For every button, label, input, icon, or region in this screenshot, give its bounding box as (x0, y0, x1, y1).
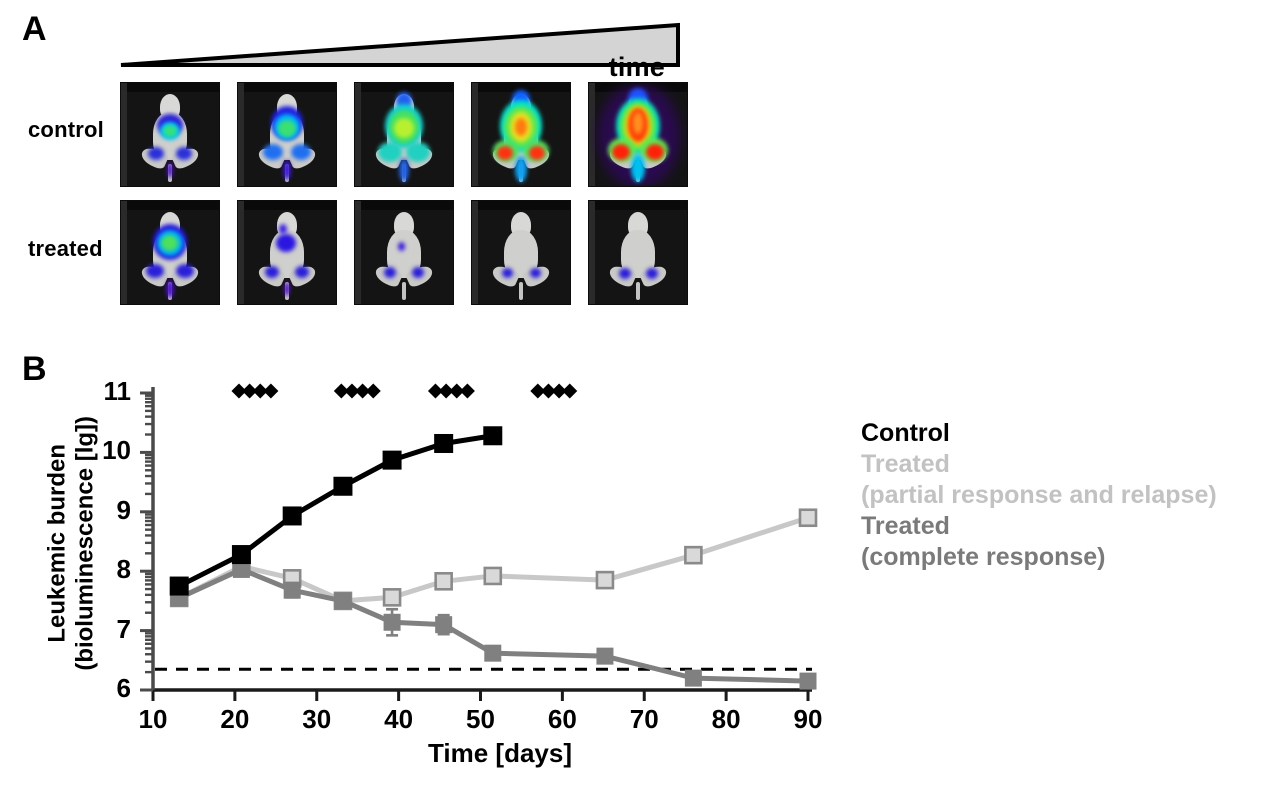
x-tick-label-10: 10 (123, 704, 183, 735)
mouse-image-treated-3 (354, 200, 454, 305)
data-point-s1-7 (597, 572, 613, 588)
chart-legend: Control Treated (partial response and re… (861, 418, 1279, 573)
leukemic-burden-chart: Leukemic burden (bioluminescence [lg]) T… (0, 340, 860, 788)
x-axis-label: Time [days] (370, 738, 630, 769)
row-label-control: control (28, 117, 104, 143)
mouse-image-control-2 (237, 82, 337, 187)
x-tick-label-70: 70 (614, 704, 674, 735)
series-0 (170, 427, 502, 595)
panel-b: B Leukemic burden (bioluminescence [lg])… (0, 340, 1279, 788)
x-tick-label-20: 20 (205, 704, 265, 735)
treatment-marker-0-3 (263, 384, 278, 399)
mouse-image-control-4 (471, 82, 571, 187)
x-tick-label-40: 40 (369, 704, 429, 735)
mouse-image-treated-2 (237, 200, 337, 305)
y-tick-label-6: 6 (91, 673, 131, 704)
mouse-row-control (120, 82, 688, 187)
mouse-row-treated (120, 200, 688, 305)
panel-a-letter: A (22, 12, 47, 46)
legend-entry-treated-partial-detail: (partial response and relapse) (861, 480, 1279, 511)
y-tick-label-10: 10 (91, 435, 131, 466)
data-point-s0-4 (383, 451, 401, 469)
time-arrow-label: time (609, 52, 665, 83)
x-tick-label-90: 90 (778, 704, 838, 735)
legend-entry-treated-complete-title: Treated (861, 511, 1279, 542)
legend-entry-treated-partial-title: Treated (861, 449, 1279, 480)
data-point-s0-1 (232, 546, 250, 564)
x-tick-label-60: 60 (532, 704, 592, 735)
y-tick-label-8: 8 (91, 554, 131, 585)
data-point-s1-4 (384, 589, 400, 605)
time-arrow-wedge: time (118, 22, 681, 68)
data-point-s2-9 (800, 673, 816, 689)
row-label-treated: treated (28, 236, 103, 262)
treatment-marker-1-3 (366, 384, 381, 399)
x-tick-label-50: 50 (451, 704, 511, 735)
treatment-marker-2-3 (460, 384, 475, 399)
data-point-s0-2 (283, 507, 301, 525)
data-point-s2-7 (597, 648, 613, 664)
mouse-image-control-1 (120, 82, 220, 187)
legend-entry-treated-complete-detail: (complete response) (861, 542, 1279, 573)
mouse-image-control-5 (588, 82, 688, 187)
data-point-s0-6 (484, 427, 502, 445)
x-tick-label-80: 80 (696, 704, 756, 735)
data-point-s0-0 (170, 577, 188, 595)
data-point-s0-3 (334, 477, 352, 495)
data-point-s1-5 (436, 573, 452, 589)
panel-a: A time control treated (0, 0, 760, 340)
mouse-image-treated-1 (120, 200, 220, 305)
data-point-s2-3 (335, 593, 351, 609)
data-point-s1-6 (485, 568, 501, 584)
mouse-image-treated-4 (471, 200, 571, 305)
data-point-s1-9 (800, 510, 816, 526)
treatment-marker-3-3 (562, 384, 577, 399)
mouse-image-control-3 (354, 82, 454, 187)
data-point-s1-8 (685, 547, 701, 563)
time-wedge-shape (118, 22, 681, 68)
series-1 (171, 510, 816, 609)
y-tick-label-7: 7 (91, 614, 131, 645)
x-tick-label-30: 30 (287, 704, 347, 735)
y-axis-label-line1: Leukemic burden (44, 393, 72, 693)
y-tick-label-11: 11 (91, 376, 131, 407)
y-tick-label-9: 9 (91, 495, 131, 526)
data-point-s2-8 (685, 670, 701, 686)
legend-entry-control: Control (861, 418, 1279, 449)
data-point-s2-4 (384, 614, 400, 630)
data-point-s2-6 (485, 645, 501, 661)
data-point-s2-2 (284, 582, 300, 598)
data-point-s0-5 (435, 434, 453, 452)
mouse-image-treated-5 (588, 200, 688, 305)
data-point-s2-5 (436, 617, 452, 633)
